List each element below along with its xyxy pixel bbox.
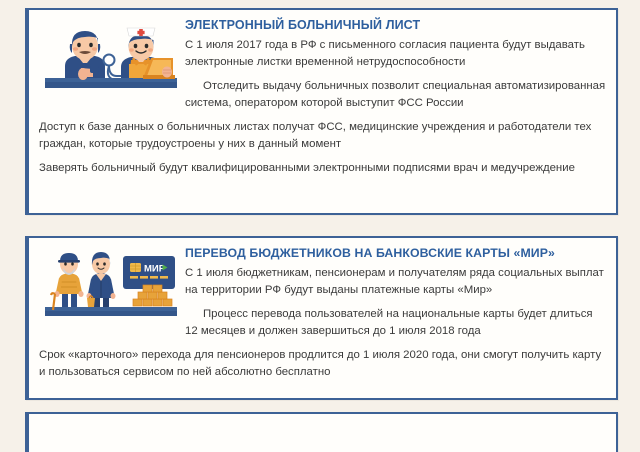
card-content: ЭЛЕКТРОННЫЙ БОЛЬНИЧНЫЙ ЛИСТ С 1 июля 201… (29, 10, 616, 187)
doctor-patient-illustration (43, 20, 179, 92)
info-card-next-partial (25, 412, 618, 452)
pensioners-mir-card-illustration: МИР (43, 248, 179, 320)
page-root: ЭЛЕКТРОННЫЙ БОЛЬНИЧНЫЙ ЛИСТ С 1 июля 201… (0, 0, 640, 425)
info-card-mir-cards-transfer: МИР (25, 236, 618, 400)
card-content: МИР (29, 238, 616, 391)
card-paragraph: Доступ к базе данных о больничных листах… (39, 119, 606, 153)
card-paragraph: Заверять больничный будут квалифицирован… (39, 160, 606, 177)
card-content (29, 414, 616, 432)
info-card-electronic-sick-leave: ЭЛЕКТРОННЫЙ БОЛЬНИЧНЫЙ ЛИСТ С 1 июля 201… (25, 8, 618, 215)
svg-text:МИР: МИР (144, 264, 166, 275)
card-paragraph: Срок «карточного» перехода для пенсионер… (39, 347, 606, 381)
